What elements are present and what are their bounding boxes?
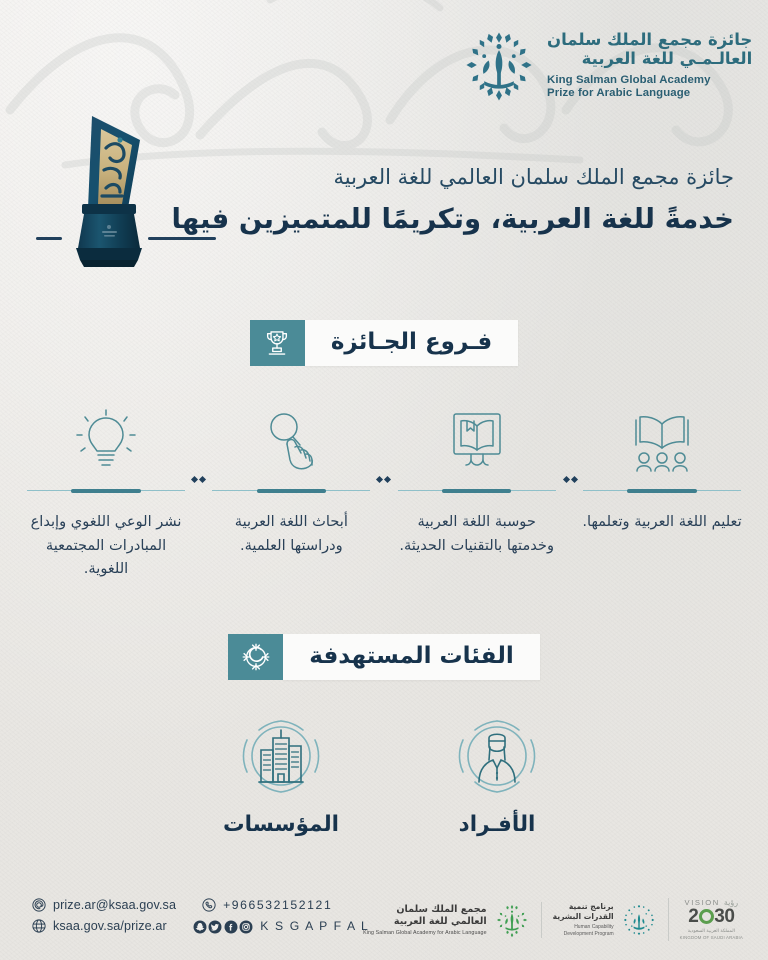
branch-separator-diamond (377, 477, 390, 482)
branch-text: حوسبة اللغة العربية وخدمتها بالتقنيات ال… (395, 510, 559, 557)
infographic-page: جائزة مجمع الملك سلمان العالـمـي للغة ال… (0, 0, 768, 960)
at-sign-icon (32, 898, 46, 912)
ksaa-logo-arabic-line2: العالمي للغة العربية (363, 916, 487, 928)
globe-icon (32, 919, 46, 933)
contact-email-text: prize.ar@ksaa.gov.sa (53, 898, 176, 912)
contact-phone[interactable]: +966532152121 (202, 898, 332, 912)
ksaa-logo-english: King Salman Global Academy for Arabic La… (363, 930, 487, 936)
instagram-icon[interactable] (239, 920, 253, 933)
target-label: المؤسسات (223, 812, 339, 837)
branches-section-header: فـروع الجـائزة (0, 320, 768, 366)
header-logo-english-line2: Prize for Arabic Language (547, 87, 752, 100)
hcdp-logo: برنامج تنمية القدرات البشرية Human Capab… (541, 902, 668, 938)
targets-list: الأفـراد (0, 716, 768, 837)
title-dash-long (148, 237, 216, 240)
target-label: الأفـراد (459, 812, 536, 837)
lightbulb-icon (69, 404, 143, 474)
twitter-icon[interactable] (208, 920, 222, 933)
contact-social[interactable]: K S G A P F A L (193, 919, 370, 933)
hand-magnifying-glass-icon (254, 404, 328, 474)
branch-separator-diamond (192, 477, 205, 482)
book-on-monitor-icon (440, 404, 514, 474)
hcdp-logo-arabic-line2: القدرات البشرية (553, 912, 614, 922)
branch-item: حوسبة اللغة العربية وخدمتها بالتقنيات ال… (393, 404, 561, 581)
branch-rule (212, 486, 370, 496)
branch-rule (27, 486, 185, 496)
targets-heading: الفئات المستهدفة (283, 634, 539, 680)
footer-logos: مجمع الملك سلمان العالمي للغة العربية Ki… (352, 898, 754, 941)
trophy-icon (250, 320, 305, 366)
ksaa-logo: مجمع الملك سلمان العالمي للغة العربية Ki… (352, 902, 541, 938)
header-logo: جائزة مجمع الملك سلمان العالـمـي للغة ال… (462, 28, 752, 102)
contact-website-text: ksaa.gov.sa/prize.ar (53, 919, 167, 933)
vision-year: 230 (688, 907, 734, 926)
vision-kingdom-english: KINGDOM OF SAUDI ARABIA (680, 935, 743, 940)
contact-phone-text: +966532152121 (223, 898, 332, 912)
hero-subtitle: جائزة مجمع الملك سلمان العالمي للغة العر… (0, 163, 734, 192)
ksaa-logo-arabic-line1: مجمع الملك سلمان (363, 904, 487, 916)
title-dash-short (36, 237, 62, 240)
buildings-icon (233, 716, 329, 802)
phone-icon (202, 898, 216, 912)
header-logo-arabic-line1: جائزة مجمع الملك سلمان (547, 30, 752, 49)
header-logo-arabic-line2: العالـمـي للغة العربية (547, 49, 752, 68)
contact-email[interactable]: prize.ar@ksaa.gov.sa (32, 898, 176, 912)
snapchat-icon[interactable] (193, 920, 207, 933)
target-item: المؤسسات (223, 716, 339, 837)
hcdp-logo-english-line2: Development Program (553, 931, 614, 938)
branch-text: أبحاث اللغة العربية ودراستها العلمية. (209, 510, 373, 557)
branch-separator-diamond (564, 477, 577, 482)
branch-text: نشر الوعي اللغوي وإبداع المبادرات المجتم… (24, 510, 188, 581)
vision-kingdom-arabic: المملكة العربية السعودية (688, 929, 735, 934)
targets-section-header: الفئات المستهدفة (0, 634, 768, 680)
target-crosshair-icon (228, 634, 283, 680)
branch-text: تعليم اللغة العربية وتعلمها. (582, 510, 741, 534)
hcdp-logo-arabic-line1: برنامج تنمية (553, 902, 614, 912)
hero-title: خدمةً للغة العربية، وتكريمًا للمتميزين ف… (0, 201, 734, 238)
vision-ring-glyph (699, 909, 714, 924)
branch-item: نشر الوعي اللغوي وإبداع المبادرات المجتم… (22, 404, 190, 581)
contact-block: prize.ar@ksaa.gov.sa +966532152121 (32, 898, 369, 933)
contact-website[interactable]: ksaa.gov.sa/prize.ar (32, 919, 167, 933)
hcdp-logo-english-line1: Human Capability (553, 924, 614, 931)
hcdp-emblem-icon (621, 902, 657, 938)
hero-title-block: جائزة مجمع الملك سلمان العالمي للغة العر… (0, 163, 768, 239)
branch-item: تعليم اللغة العربية وتعلمها. (578, 404, 746, 581)
branch-rule (583, 486, 741, 496)
branches-list: تعليم اللغة العربية وتعلمها. حوسبة اللغة… (22, 404, 746, 581)
branch-rule (398, 486, 556, 496)
ksaa-emblem-icon (494, 902, 530, 938)
open-book-with-audience-icon (625, 404, 699, 474)
header-logo-english-line1: King Salman Global Academy (547, 74, 752, 87)
saudi-palm-swords-emblem-icon (462, 28, 536, 102)
branch-item: أبحاث اللغة العربية ودراستها العلمية. (207, 404, 375, 581)
branches-heading: فـروع الجـائزة (305, 320, 518, 366)
person-icon (449, 716, 545, 802)
vision-2030-logo: VISION رؤية 230 المملكة العربية السعودية… (668, 898, 754, 941)
footer: prize.ar@ksaa.gov.sa +966532152121 (0, 886, 768, 960)
facebook-icon[interactable] (224, 920, 238, 933)
target-item: الأفـراد (449, 716, 545, 837)
